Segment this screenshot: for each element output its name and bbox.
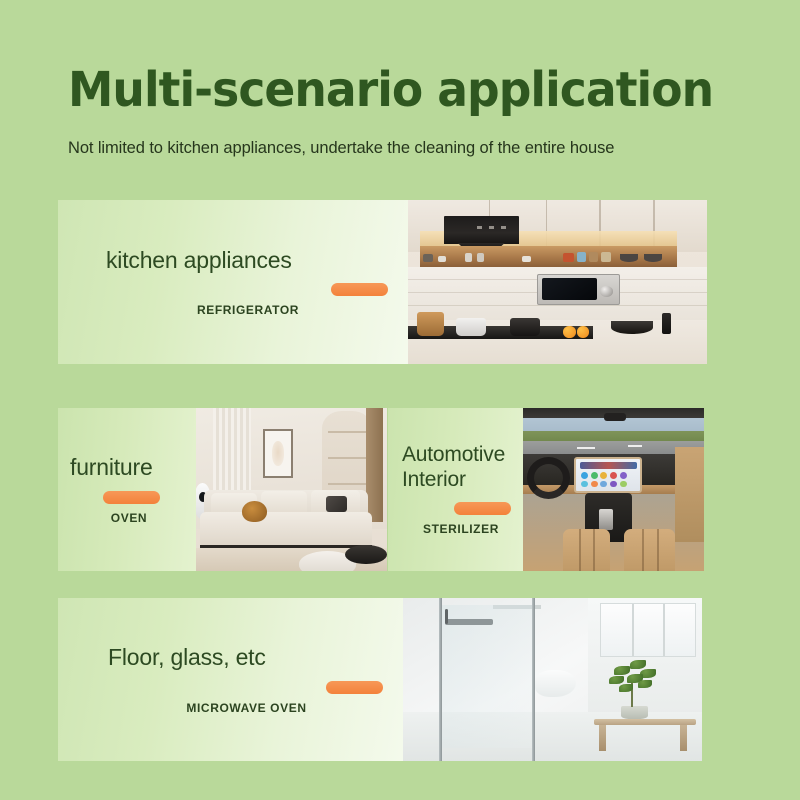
plant-leaf bbox=[609, 676, 623, 685]
range-hood-icon bbox=[444, 216, 519, 244]
potted-plant bbox=[603, 657, 663, 708]
microwave-knob bbox=[600, 286, 613, 296]
steel-pot bbox=[456, 318, 486, 336]
shelf-jar bbox=[465, 253, 472, 262]
car-interior-photo bbox=[523, 408, 704, 571]
card-sublabel: STERILIZER bbox=[402, 522, 517, 536]
screen-app-icon bbox=[591, 481, 598, 487]
microwave-icon bbox=[537, 274, 621, 305]
accent-row bbox=[402, 502, 517, 515]
rearview-mirror bbox=[604, 413, 626, 421]
card-text-panel: Automotive Interior STERILIZER bbox=[388, 408, 523, 571]
gear-shifter bbox=[599, 509, 613, 530]
door-panel bbox=[675, 447, 704, 542]
shower-frame-post bbox=[532, 598, 535, 761]
plant-leaf bbox=[638, 680, 652, 688]
card-heading: furniture bbox=[70, 454, 192, 481]
plant-leaf bbox=[630, 660, 647, 670]
scenario-card-kitchen[interactable]: kitchen appliances REFRIGERATOR bbox=[58, 200, 707, 364]
alcove-shelf bbox=[328, 431, 366, 433]
seat-stitch bbox=[657, 529, 659, 571]
card-heading: Floor, glass, etc bbox=[108, 644, 389, 671]
card-text-panel: Floor, glass, etc MICROWAVE OVEN bbox=[58, 598, 403, 761]
page-subtitle: Not limited to kitchen appliances, under… bbox=[68, 139, 614, 158]
page-title: Multi-scenario application bbox=[68, 62, 713, 118]
orange-fruit bbox=[563, 326, 576, 337]
accent-row bbox=[70, 491, 192, 504]
bench-leg bbox=[680, 725, 687, 751]
window-mullion bbox=[663, 604, 665, 656]
card-heading: kitchen appliances bbox=[106, 247, 394, 274]
bottle bbox=[662, 313, 671, 334]
kitchen-photo bbox=[408, 200, 707, 364]
shower-frame-post bbox=[439, 598, 442, 761]
screen-widget-bar bbox=[580, 462, 637, 469]
card-text-panel: furniture OVEN bbox=[58, 408, 196, 571]
wooden-bench bbox=[594, 719, 696, 726]
brown-curtain bbox=[366, 408, 383, 522]
bench-leg bbox=[599, 725, 606, 751]
plant-leaf bbox=[614, 666, 630, 675]
seat-stitch bbox=[593, 529, 595, 571]
passenger-seat bbox=[624, 529, 675, 571]
shelf-jar bbox=[563, 253, 573, 263]
screen-app-icon bbox=[600, 472, 607, 478]
accent-pill-icon bbox=[103, 491, 160, 504]
round-cushion bbox=[242, 501, 267, 522]
range-hood-controls bbox=[477, 226, 508, 229]
card-text-panel: kitchen appliances REFRIGERATOR bbox=[58, 200, 408, 364]
glass-shower-panel bbox=[439, 605, 535, 748]
screen-app-icon bbox=[600, 481, 607, 487]
plant-pot bbox=[621, 706, 648, 719]
sofa-seat bbox=[200, 512, 372, 548]
screen-app-icon bbox=[620, 481, 627, 487]
screen-app-icon bbox=[620, 472, 627, 478]
accent-pill-icon bbox=[454, 502, 511, 515]
shelf-jar bbox=[589, 252, 599, 263]
framed-artwork bbox=[263, 429, 294, 478]
microwave-display bbox=[542, 278, 598, 300]
center-touchscreen bbox=[574, 457, 643, 493]
wooden-open-shelf bbox=[420, 246, 677, 267]
lane-marking bbox=[628, 445, 642, 447]
screen-app-icon bbox=[610, 472, 617, 478]
steering-wheel-icon bbox=[527, 457, 570, 499]
card-sublabel: MICROWAVE OVEN bbox=[108, 701, 389, 715]
screen-app-icon bbox=[591, 472, 598, 478]
screen-app-icon bbox=[581, 472, 588, 478]
living-room-photo bbox=[196, 408, 387, 571]
alcove-shelf bbox=[328, 483, 366, 485]
shelf-jar bbox=[477, 253, 484, 262]
accent-row bbox=[106, 283, 394, 296]
shelf-jar bbox=[601, 252, 611, 263]
shelf-jar bbox=[423, 254, 433, 262]
screen-app-icon bbox=[610, 481, 617, 487]
shower-handle-arm bbox=[445, 609, 448, 624]
scenario-card-automotive[interactable]: Automotive Interior STERILIZER bbox=[388, 408, 704, 571]
page-header: Multi-scenario application Not limited t… bbox=[0, 0, 800, 190]
window-mullion bbox=[632, 604, 634, 656]
driver-seat bbox=[563, 529, 610, 571]
shower-door-handle bbox=[445, 619, 493, 625]
tile-line bbox=[408, 305, 707, 306]
seat-stitch bbox=[642, 529, 644, 571]
clay-pot bbox=[417, 312, 444, 337]
screen-app-icon bbox=[581, 481, 588, 487]
bathroom-window bbox=[600, 603, 696, 657]
throw-pillow bbox=[326, 496, 347, 512]
seat-stitch bbox=[579, 529, 581, 571]
shelf-jar bbox=[522, 256, 531, 263]
shelf-jar bbox=[577, 252, 587, 263]
accent-pill-icon bbox=[331, 283, 388, 296]
bathroom-photo bbox=[403, 598, 702, 761]
shelf-jar bbox=[438, 256, 446, 263]
accent-row bbox=[108, 681, 389, 694]
orange-fruit bbox=[577, 326, 590, 337]
card-sublabel: REFRIGERATOR bbox=[106, 303, 394, 317]
black-pot bbox=[510, 318, 540, 336]
card-heading: Automotive Interior bbox=[402, 443, 517, 493]
lane-marking bbox=[577, 447, 595, 449]
alcove-shelf bbox=[328, 457, 366, 459]
scenario-card-floor-glass[interactable]: Floor, glass, etc MICROWAVE OVEN bbox=[58, 598, 702, 761]
card-sublabel: OVEN bbox=[70, 511, 192, 525]
accent-pill-icon bbox=[326, 681, 383, 694]
scenario-card-furniture[interactable]: furniture OVEN bbox=[58, 408, 387, 571]
